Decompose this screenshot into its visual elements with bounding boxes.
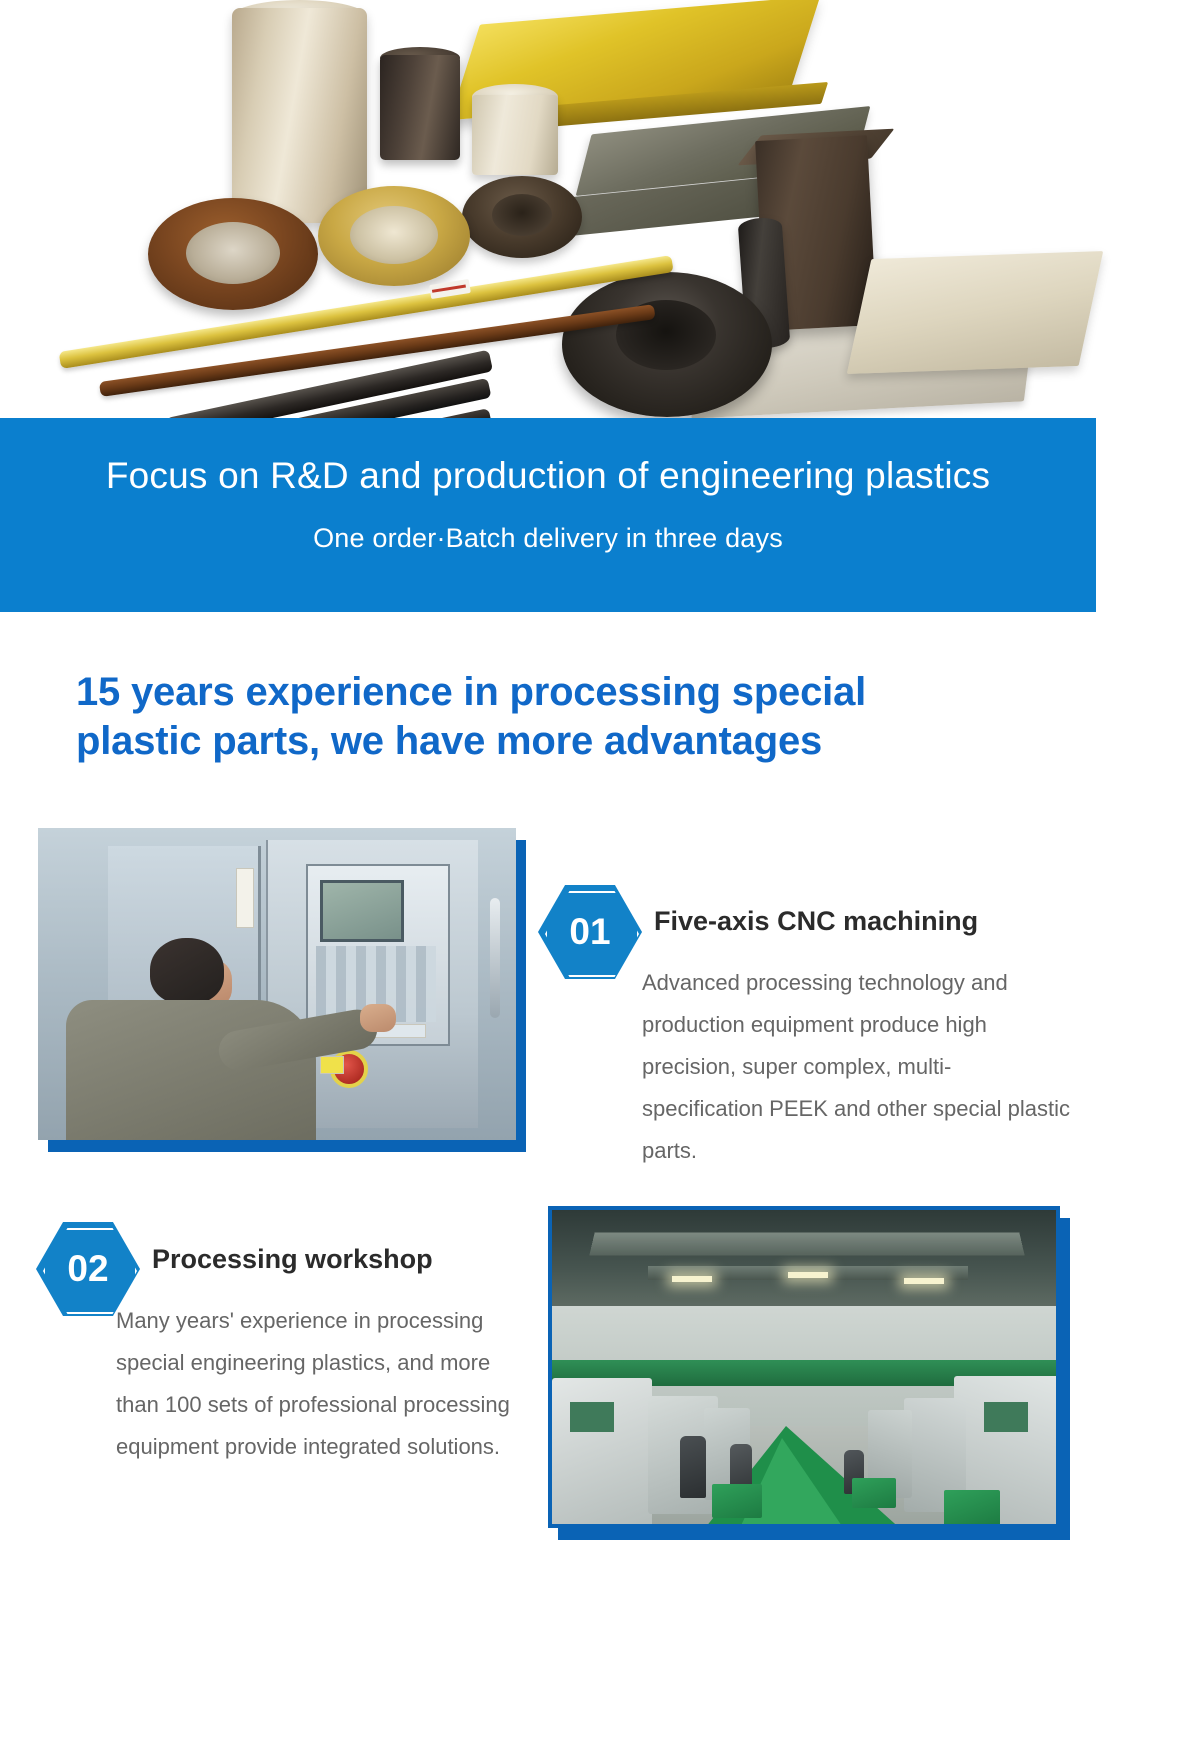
beige-sheet-shape (847, 251, 1104, 374)
cream-cylinder-shape (472, 95, 558, 175)
feature-02-image (548, 1206, 1060, 1528)
material-cart-shape (712, 1484, 762, 1518)
feature-01-body: Advanced processing technology and produ… (642, 962, 1072, 1172)
feature-02-title: Processing workshop (152, 1244, 433, 1275)
feature-02-body: Many years' experience in processing spe… (116, 1300, 526, 1468)
feature-01-image (38, 828, 516, 1140)
workshop-duct-shape (589, 1233, 1024, 1256)
operator-hand-shape (360, 1004, 396, 1032)
operator-body-shape (66, 1000, 316, 1140)
workshop-lamp-shape (788, 1272, 828, 1278)
machine-left-one-shape (552, 1378, 652, 1528)
hero-photo-stage (0, 0, 1200, 425)
cnc-yellow-sticker-shape (320, 1056, 344, 1074)
feature-01-badge: 01 (538, 885, 642, 979)
headline-banner (0, 418, 1096, 612)
banner-subheadline: One order·Batch delivery in three days (0, 523, 1096, 554)
workshop-ceiling-shape (552, 1210, 1060, 1306)
operator-head-shape (150, 938, 224, 1004)
banner-headline: Focus on R&D and production of engineeri… (0, 455, 1096, 497)
ptfe-rod-shape (232, 8, 367, 223)
material-cart-shape (944, 1490, 1000, 1526)
section-heading-line-1: 15 years experience in processing specia… (76, 668, 1076, 717)
brown-ring-hole-shape (186, 222, 280, 284)
material-cart-shape (852, 1478, 896, 1508)
feature-01-title: Five-axis CNC machining (654, 906, 978, 937)
machine-screen-shape (570, 1402, 614, 1432)
feature-01-number: 01 (538, 885, 642, 979)
cnc-screen-shape (320, 880, 404, 942)
cnc-warning-sticker-shape (236, 868, 254, 928)
cnc-door-handle-shape (490, 898, 500, 1018)
section-heading: 15 years experience in processing specia… (76, 668, 1076, 766)
machine-screen-shape (984, 1402, 1028, 1432)
workshop-lamp-shape (904, 1278, 944, 1284)
hero-product-photo (0, 0, 1200, 425)
brass-ring-hole-shape (350, 206, 438, 264)
worker-shape (680, 1436, 706, 1498)
dark-cylinder-shape (380, 55, 460, 160)
workshop-lamp-shape (672, 1276, 712, 1282)
dark-ring-hole-shape (492, 194, 552, 236)
section-heading-line-2: plastic parts, we have more advantages (76, 717, 1076, 766)
